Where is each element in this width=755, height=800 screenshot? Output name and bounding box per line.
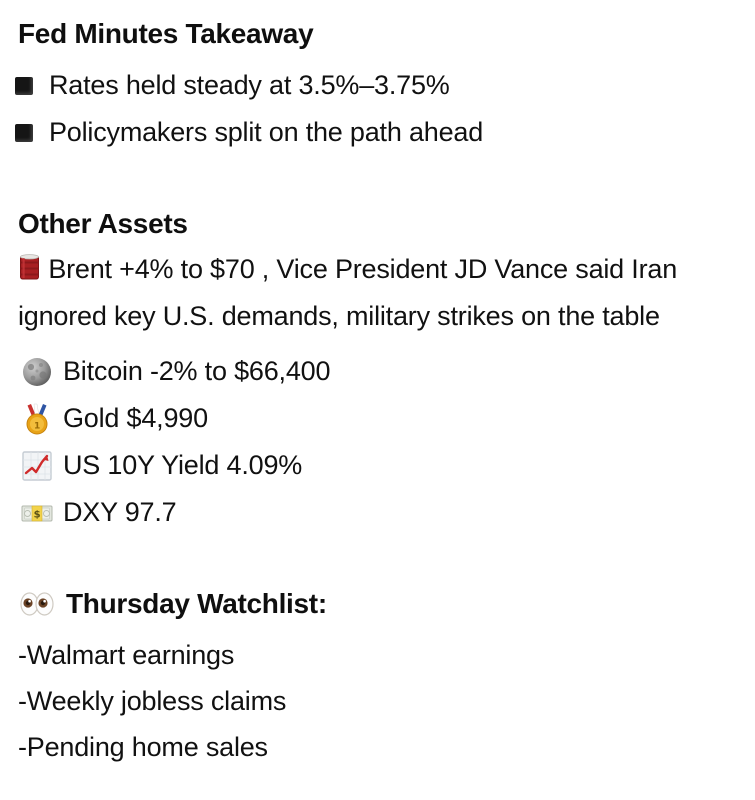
asset-row-text: US 10Y Yield 4.09% [63, 442, 302, 489]
other-assets-heading: Other Assets [18, 210, 741, 238]
oil-drum-icon [18, 254, 41, 286]
asset-row-text: DXY 97.7 [63, 489, 176, 536]
list-item: -Pending home sales [18, 724, 741, 770]
list-item: Bitcoin -2% to $66,400 [18, 348, 741, 395]
section-spacer-1 [0, 156, 755, 210]
gold-medal-icon: 1 [20, 402, 54, 436]
watchlist-title: Thursday Watchlist: [66, 590, 327, 618]
section-spacer-2 [0, 536, 755, 590]
brent-paragraph: Brent +4% to $70 , Vice President JD Van… [18, 246, 723, 340]
list-item: -Weekly jobless claims [18, 678, 741, 724]
moon-rock-icon [20, 355, 54, 389]
list-item: 1 Gold $4,990 [18, 395, 741, 442]
other-assets-section: Other Assets Brent +4% to $70 , Vice Pre… [0, 210, 755, 536]
brent-paragraph-text: Brent +4% to $70 , Vice President JD Van… [18, 254, 677, 331]
asset-row-list: Bitcoin -2% to $66,400 1 Gold $4,990 [18, 348, 741, 536]
eyes-icon [19, 591, 55, 617]
asset-row-text: Gold $4,990 [63, 395, 208, 442]
asset-row-text: Bitcoin -2% to $66,400 [63, 348, 330, 395]
spacer-after-fed-heading [0, 48, 755, 62]
spacer-after-assets-heading [18, 238, 741, 246]
fed-minutes-heading: Fed Minutes Takeaway [18, 20, 741, 48]
list-item: -Walmart earnings [18, 632, 741, 678]
top-spacer [0, 0, 755, 20]
fed-minutes-bullet-list: Rates held steady at 3.5%–3.75% Policyma… [0, 62, 755, 156]
spacer-before-asset-rows [18, 340, 741, 348]
watchlist-heading-row: Thursday Watchlist: [18, 590, 741, 618]
list-item: US 10Y Yield 4.09% [18, 442, 741, 489]
black-square-icon [15, 124, 33, 142]
chart-increasing-icon [20, 449, 54, 483]
note-page: Fed Minutes Takeaway Rates held steady a… [0, 0, 755, 800]
fed-minutes-section: Fed Minutes Takeaway [0, 20, 755, 48]
watchlist-items: -Walmart earnings -Weekly jobless claims… [18, 632, 741, 770]
list-item: Rates held steady at 3.5%–3.75% [0, 62, 755, 109]
fed-bullet-text: Policymakers split on the path ahead [49, 109, 483, 156]
dollar-banknote-icon: $ [20, 496, 54, 530]
watchlist-section: Thursday Watchlist: -Walmart earnings -W… [0, 590, 755, 770]
black-square-icon [15, 77, 33, 95]
list-item: $ DXY 97.7 [18, 489, 741, 536]
list-item: Policymakers split on the path ahead [0, 109, 755, 156]
svg-text:$: $ [34, 509, 41, 520]
spacer-after-watchlist-heading [18, 618, 741, 632]
fed-bullet-text: Rates held steady at 3.5%–3.75% [49, 62, 450, 109]
svg-text:1: 1 [34, 421, 40, 431]
